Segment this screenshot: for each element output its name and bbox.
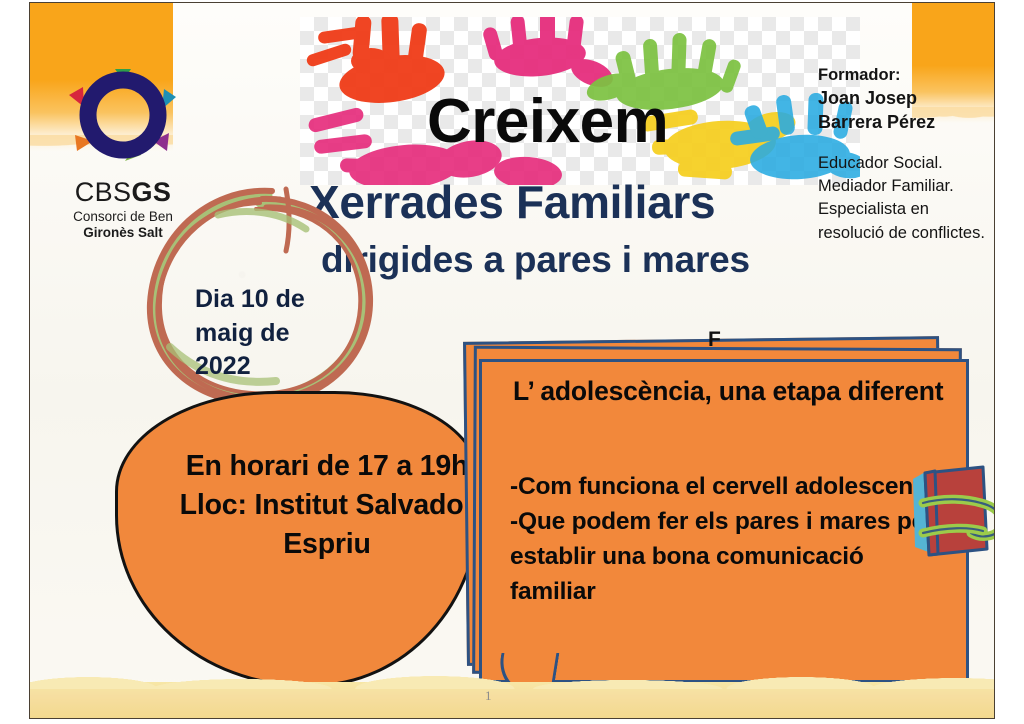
trainer-label: Formador: [818, 65, 995, 87]
note-peek-letter: F [708, 329, 721, 350]
binder-clip-glyph [905, 457, 995, 567]
date-line3: 2022 [195, 350, 355, 384]
trainer-name-line1: Joan Josep [818, 87, 995, 111]
date-scribble-circle: Dia 10 de maig de 2022 [140, 185, 380, 410]
page-number: 1 [485, 688, 492, 704]
page-frame: CBSGS Consorci de Ben Gironès Salt [29, 2, 995, 719]
poster-title-main: Creixem [427, 91, 668, 153]
poster-tagline: dirigides a pares i mares [321, 241, 750, 278]
date-text: Dia 10 de maig de 2022 [195, 283, 355, 384]
cbsgs-logo-mark [63, 65, 183, 177]
logo-ring-icon [63, 65, 183, 177]
session-bullets: -Com funciona el cervell adolescent -Que… [510, 469, 940, 609]
session-bullet-1: -Com funciona el cervell adolescent [510, 469, 940, 504]
poster-slide: CBSGS Consorci de Ben Gironès Salt [0, 0, 1024, 724]
trainer-info: Formador: Joan Josep Barrera Pérez Educa… [818, 65, 995, 245]
trainer-bio: Educador Social. Mediador Familiar. Espe… [818, 152, 995, 246]
session-heading: L’ adolescència, una etapa diferent [513, 375, 973, 409]
session-bullet-2: -Que podem fer els pares i mares per est… [510, 504, 940, 609]
date-line2: maig de [195, 317, 355, 351]
cbsgs-wordmark-light: CBS [75, 177, 132, 207]
trainer-name-line2: Barrera Pérez [818, 111, 995, 135]
binder-clip-icon [905, 457, 995, 567]
date-line1: Dia 10 de [195, 283, 355, 317]
bottom-yellow-band [30, 682, 994, 718]
session-note-card: F L’ adolescència, una etapa diferent -C… [465, 333, 965, 685]
